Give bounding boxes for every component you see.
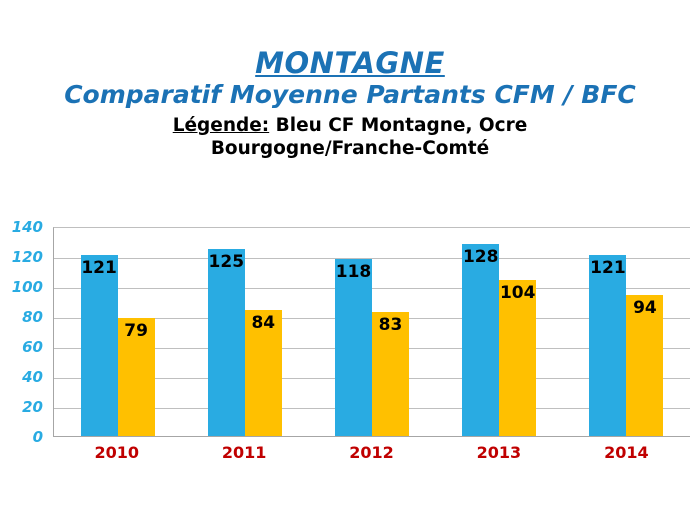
bar-value-label: 128 (462, 248, 499, 267)
bar-2011-montagne[interactable]: 125 (208, 249, 245, 437)
bars: 128 104 (436, 228, 563, 436)
bars: 118 83 (308, 228, 435, 436)
bar-chart: 140 120 100 80 60 40 20 0 121 79 (0, 215, 700, 485)
bar-2012-montagne[interactable]: 118 (335, 259, 372, 436)
page-subtitle: Comparatif Moyenne Partants CFM / BFC (0, 80, 700, 110)
x-axis: 2010 2011 2012 2013 2014 (53, 443, 690, 462)
x-tick-2011: 2011 (180, 443, 307, 462)
bar-2010-montagne[interactable]: 121 (81, 255, 118, 437)
x-tick-2010: 2010 (53, 443, 180, 462)
bar-value-label: 104 (499, 284, 536, 303)
bar-2013-montagne[interactable]: 128 (462, 244, 499, 436)
bar-2013-bfc[interactable]: 104 (499, 280, 536, 436)
x-tick-2014: 2014 (563, 443, 690, 462)
y-tick-40: 40 (22, 368, 43, 386)
y-tick-20: 20 (22, 398, 43, 416)
y-tick-0: 0 (33, 428, 43, 446)
bar-2010-bfc[interactable]: 79 (118, 318, 155, 437)
bars: 121 79 (54, 228, 181, 436)
bar-group-2011: 125 84 (181, 228, 308, 436)
bar-group-2010: 121 79 (54, 228, 181, 436)
bars: 125 84 (181, 228, 308, 436)
bar-2014-bfc[interactable]: 94 (626, 295, 663, 436)
y-tick-80: 80 (22, 308, 43, 326)
y-axis: 140 120 100 80 60 40 20 0 (0, 215, 48, 437)
legend-caption: Légende: Bleu CF Montagne, Ocre Bourgogn… (0, 114, 700, 160)
title-block: MONTAGNE Comparatif Moyenne Partants CFM… (0, 46, 700, 160)
bar-group-2014: 121 94 (563, 228, 690, 436)
bar-value-label: 79 (118, 322, 155, 341)
bar-2014-montagne[interactable]: 121 (589, 255, 626, 437)
bar-value-label: 121 (589, 259, 626, 278)
bar-2012-bfc[interactable]: 83 (372, 312, 409, 437)
page-title: MONTAGNE (0, 46, 700, 80)
plot-area: 121 79 125 84 (53, 227, 690, 437)
bars: 121 94 (563, 228, 690, 436)
y-tick-140: 140 (12, 218, 43, 236)
bar-value-label: 118 (335, 263, 372, 282)
y-tick-100: 100 (12, 278, 43, 296)
legend-caption-label: Légende: (173, 115, 269, 136)
bar-group-2012: 118 83 (308, 228, 435, 436)
bar-value-label: 84 (245, 314, 282, 333)
bar-value-label: 121 (81, 259, 118, 278)
bar-2011-bfc[interactable]: 84 (245, 310, 282, 436)
x-tick-2012: 2012 (308, 443, 435, 462)
bar-value-label: 83 (372, 316, 409, 335)
x-tick-2013: 2013 (435, 443, 562, 462)
bar-group-2013: 128 104 (436, 228, 563, 436)
bar-value-label: 94 (626, 299, 663, 318)
y-tick-120: 120 (12, 248, 43, 266)
bar-groups: 121 79 125 84 (54, 228, 690, 436)
y-tick-60: 60 (22, 338, 43, 356)
bar-value-label: 125 (208, 253, 245, 272)
